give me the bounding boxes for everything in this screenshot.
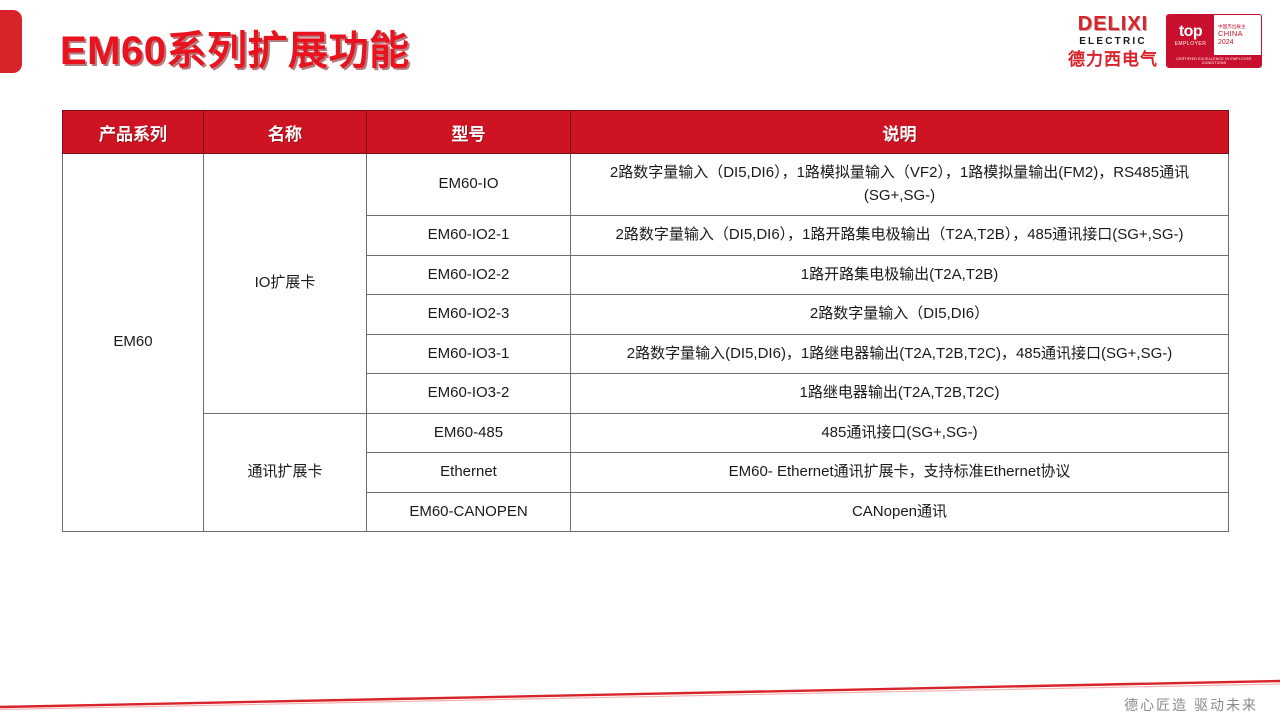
table-row: 通讯扩展卡EM60-485485通讯接口(SG+,SG-)	[63, 413, 1229, 453]
cell-description: 2路数字量输入(DI5,DI6)，1路继电器输出(T2A,T2B,T2C)，48…	[571, 334, 1229, 374]
cell-model: EM60-CANOPEN	[367, 492, 571, 532]
cell-model: EM60-IO3-1	[367, 334, 571, 374]
cell-description: 2路数字量输入（DI5,DI6），1路开路集电极输出（T2A,T2B），485通…	[571, 216, 1229, 256]
cell-description: 2路数字量输入（DI5,DI6）	[571, 295, 1229, 335]
badge-main: top EMPLOYER 中国杰出雇主 CHINA 2024	[1167, 15, 1261, 55]
delixi-wordmark: DELIXI	[1078, 14, 1148, 34]
table-body: EM60IO扩展卡EM60-IO2路数字量输入（DI5,DI6），1路模拟量输入…	[63, 154, 1229, 532]
badge-left: top EMPLOYER	[1167, 15, 1214, 55]
cell-description: 1路开路集电极输出(T2A,T2B)	[571, 255, 1229, 295]
table-header-row: 产品系列 名称 型号 说明	[63, 111, 1229, 154]
badge-top-text: top	[1179, 24, 1202, 40]
delixi-chinese-name: 德力西电气	[1068, 51, 1158, 68]
top-employer-badge: top EMPLOYER 中国杰出雇主 CHINA 2024 CERTIFIED…	[1166, 14, 1262, 68]
badge-country-text: CHINA	[1218, 29, 1259, 38]
delixi-logo: DELIXI ELECTRIC 德力西电气	[1068, 14, 1158, 68]
delixi-subtitle: ELECTRIC	[1079, 37, 1147, 47]
badge-certification-text: CERTIFIED EXCELLENCE IN EMPLOYEE CONDITI…	[1167, 55, 1261, 67]
cell-group-name: 通讯扩展卡	[204, 413, 367, 532]
brand-logo-block: DELIXI ELECTRIC 德力西电气 top EMPLOYER 中国杰出雇…	[1068, 14, 1262, 68]
badge-right: 中国杰出雇主 CHINA 2024	[1214, 15, 1261, 55]
expansion-spec-table: 产品系列 名称 型号 说明 EM60IO扩展卡EM60-IO2路数字量输入（DI…	[62, 110, 1229, 532]
cell-group-name: IO扩展卡	[204, 154, 367, 414]
cell-model: Ethernet	[367, 453, 571, 493]
cell-product-series: EM60	[63, 154, 204, 532]
slide-root: EM60系列扩展功能 DELIXI ELECTRIC 德力西电气 top EMP…	[0, 0, 1280, 720]
cell-description: 2路数字量输入（DI5,DI6），1路模拟量输入（VF2），1路模拟量输出(FM…	[571, 154, 1229, 216]
header-description: 说明	[571, 111, 1229, 154]
cell-model: EM60-IO2-1	[367, 216, 571, 256]
cell-description: CANopen通讯	[571, 492, 1229, 532]
footer-diagonal-line	[0, 660, 1280, 720]
badge-year-text: 2024	[1218, 39, 1259, 48]
cell-model: EM60-IO3-2	[367, 374, 571, 414]
cell-description: 1路继电器输出(T2A,T2B,T2C)	[571, 374, 1229, 414]
cell-description: 485通讯接口(SG+,SG-)	[571, 413, 1229, 453]
cell-model: EM60-485	[367, 413, 571, 453]
cell-model: EM60-IO2-3	[367, 295, 571, 335]
cell-model: EM60-IO2-2	[367, 255, 571, 295]
badge-employer-text: EMPLOYER	[1175, 42, 1207, 47]
footer-slogan: 德心匠造 驱动未来	[1124, 695, 1258, 715]
title-accent-bar	[0, 10, 22, 73]
header-model: 型号	[367, 111, 571, 154]
header-product-series: 产品系列	[63, 111, 204, 154]
cell-description: EM60- Ethernet通讯扩展卡，支持标准Ethernet协议	[571, 453, 1229, 493]
header-name: 名称	[204, 111, 367, 154]
cell-model: EM60-IO	[367, 154, 571, 216]
table-row: EM60IO扩展卡EM60-IO2路数字量输入（DI5,DI6），1路模拟量输入…	[63, 154, 1229, 216]
page-title: EM60系列扩展功能	[60, 18, 410, 76]
